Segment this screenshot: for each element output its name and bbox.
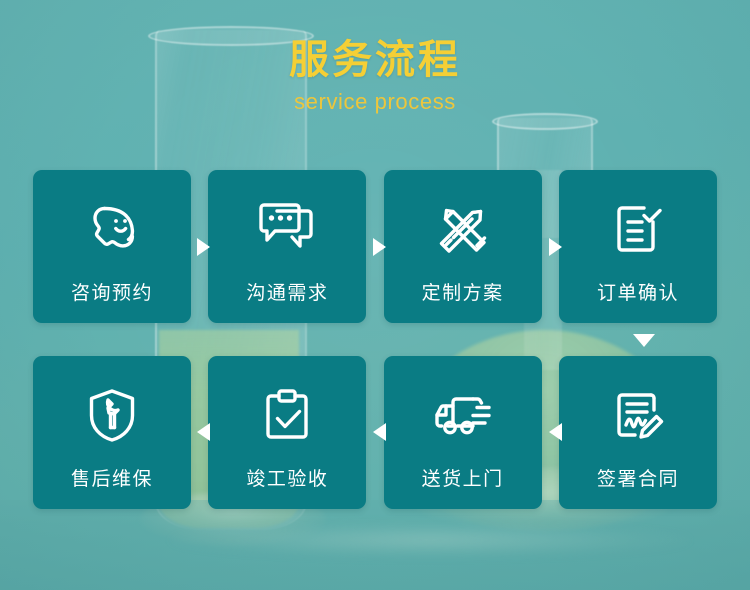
arrow-step1-to-step2 bbox=[197, 238, 210, 256]
step-card-consultation[interactable]: 咨询预约 bbox=[33, 170, 191, 323]
step-card-sign-contract[interactable]: 签署合同 bbox=[559, 356, 717, 509]
step-card-after-sales[interactable]: 售后维保 bbox=[33, 356, 191, 509]
step-card-label: 定制方案 bbox=[422, 278, 504, 305]
page-title: 服务流程 bbox=[0, 38, 750, 82]
step-card-delivery[interactable]: 送货上门 bbox=[384, 356, 542, 509]
phone-smiley-icon bbox=[79, 196, 145, 262]
step-card-label: 咨询预约 bbox=[71, 278, 153, 305]
arrow-step8-to-step7 bbox=[549, 423, 562, 441]
clipboard-check-icon bbox=[254, 382, 320, 448]
step-card-label: 送货上门 bbox=[422, 464, 504, 491]
step-card-label: 竣工验收 bbox=[246, 464, 328, 491]
arrow-step6-to-step5 bbox=[197, 423, 210, 441]
page-subtitle: service process bbox=[0, 89, 750, 115]
arrow-step3-to-step4 bbox=[549, 238, 562, 256]
arrow-step4-to-step5 bbox=[633, 334, 655, 347]
step-card-acceptance[interactable]: 竣工验收 bbox=[208, 356, 366, 509]
delivery-truck-icon bbox=[430, 382, 496, 448]
step-card-label: 售后维保 bbox=[71, 464, 153, 491]
pencil-ruler-icon bbox=[430, 196, 496, 262]
service-process-banner: 服务流程 service process 咨询预约 bbox=[0, 0, 750, 590]
step-card-label: 订单确认 bbox=[597, 278, 679, 305]
arrow-step2-to-step3 bbox=[373, 238, 386, 256]
arrow-step7-to-step6 bbox=[373, 423, 386, 441]
step-card-requirements[interactable]: 沟通需求 bbox=[208, 170, 366, 323]
process-steps-grid: 咨询预约 沟通需求 bbox=[33, 170, 717, 509]
step-card-label: 签署合同 bbox=[597, 464, 679, 491]
banner-header: 服务流程 service process bbox=[0, 38, 750, 115]
step-card-label: 沟通需求 bbox=[246, 278, 328, 305]
step-card-order-confirm[interactable]: 订单确认 bbox=[559, 170, 717, 323]
contract-signature-icon bbox=[605, 382, 671, 448]
document-check-icon bbox=[605, 196, 671, 262]
shield-wrench-icon bbox=[79, 382, 145, 448]
step-card-custom-plan[interactable]: 定制方案 bbox=[384, 170, 542, 323]
chat-bubbles-icon bbox=[254, 196, 320, 262]
